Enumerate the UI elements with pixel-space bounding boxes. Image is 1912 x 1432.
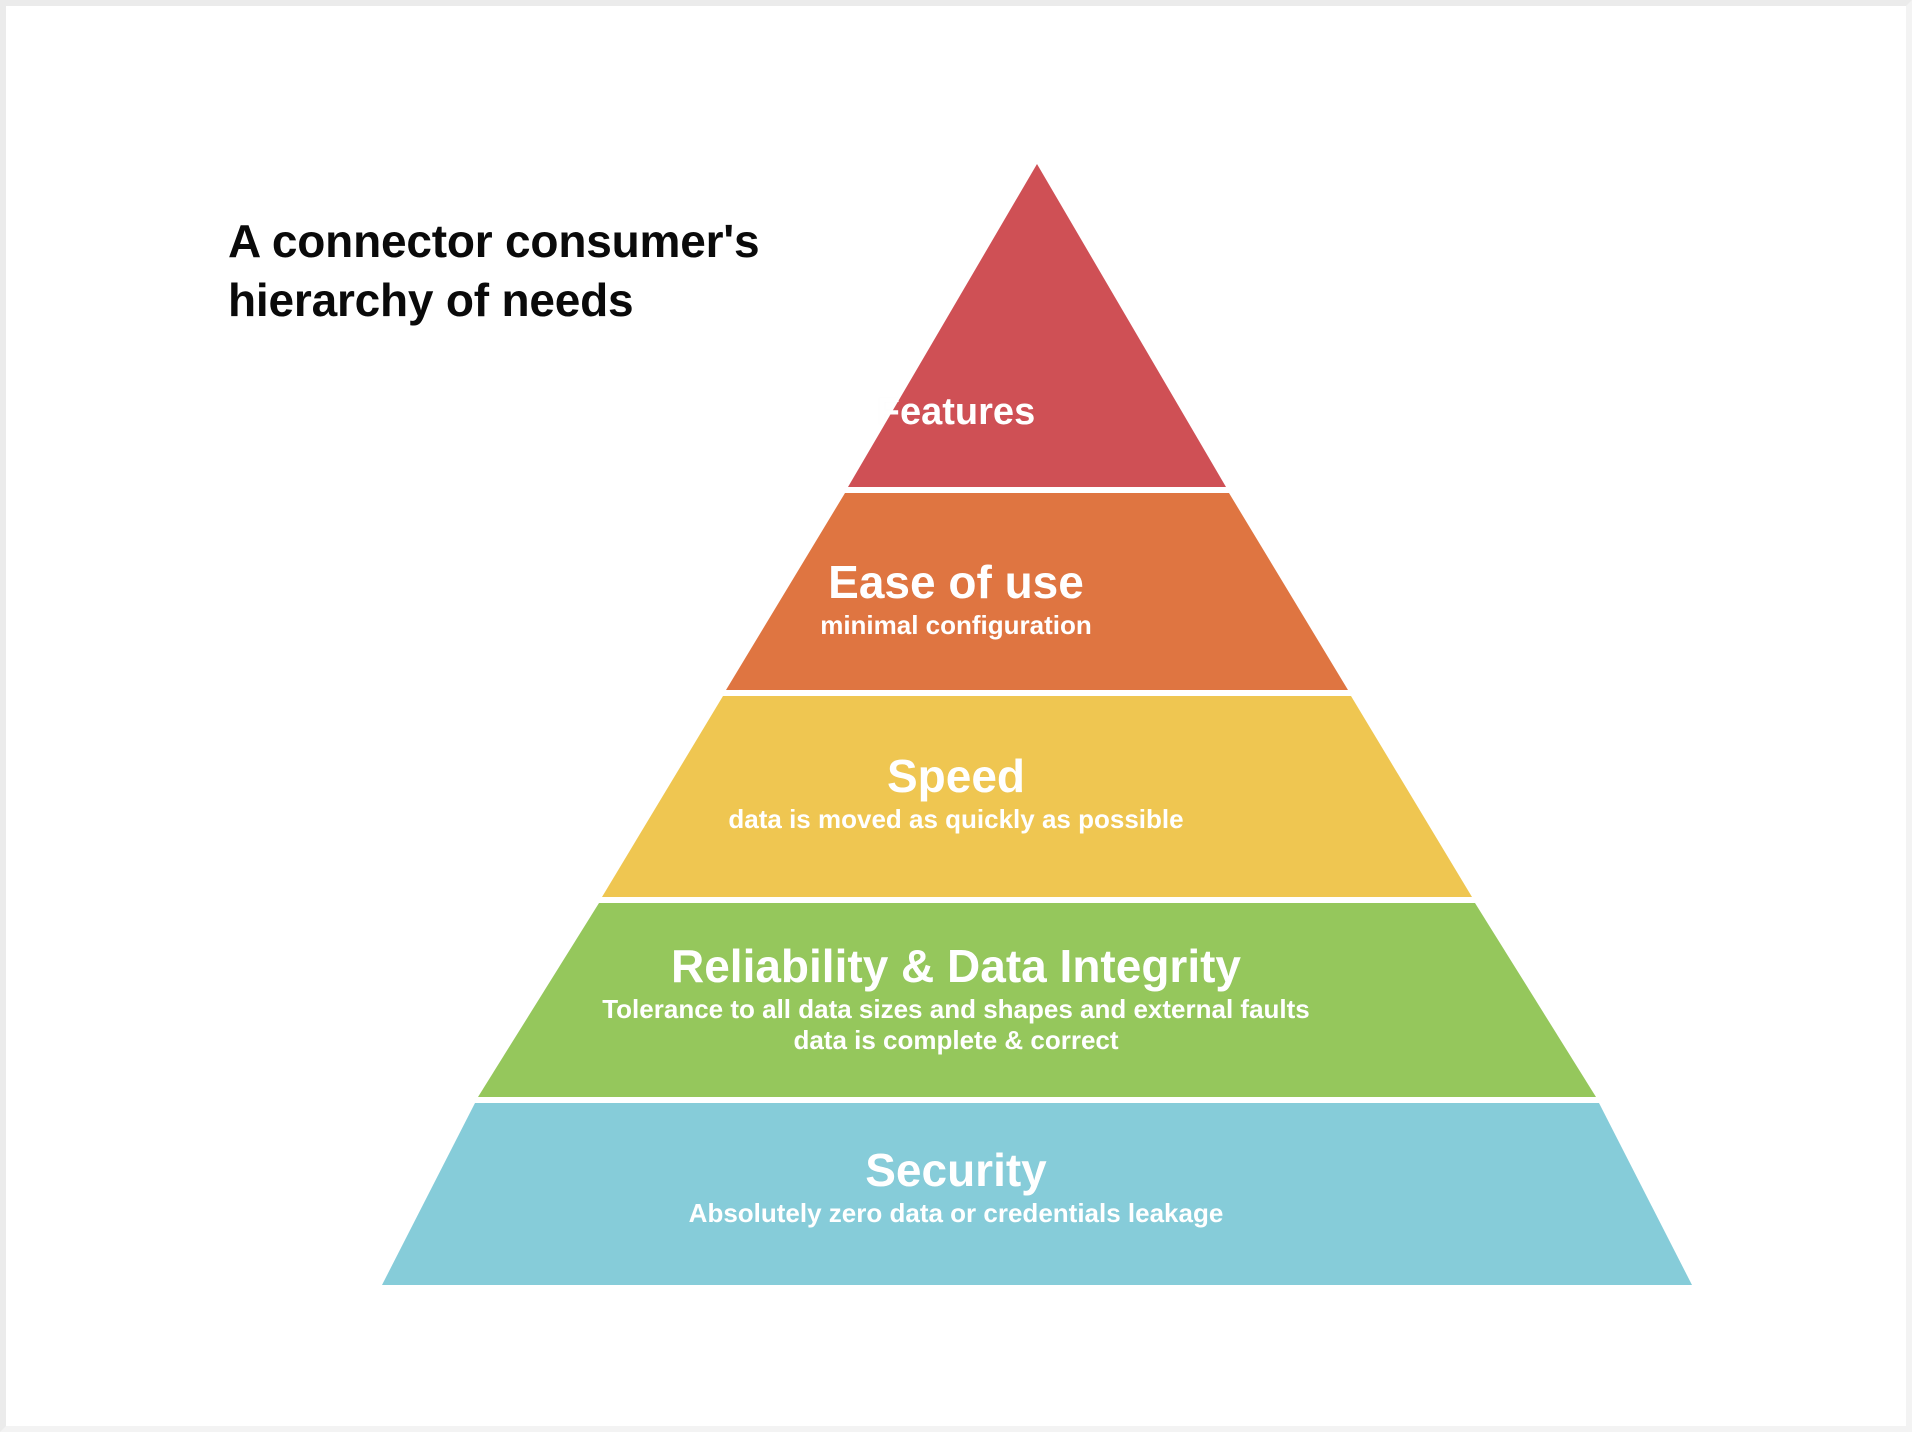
pyramid-band-reliability[interactable] xyxy=(478,903,1596,1097)
pyramid-band-features[interactable] xyxy=(848,164,1226,487)
pyramid-diagram xyxy=(0,0,1912,1432)
pyramid-band-speed[interactable] xyxy=(602,696,1472,897)
pyramid-band-ease-of-use[interactable] xyxy=(726,493,1348,690)
pyramid-band-security[interactable] xyxy=(382,1103,1692,1285)
slide-canvas: A connector consumer's hierarchy of need… xyxy=(0,0,1912,1432)
